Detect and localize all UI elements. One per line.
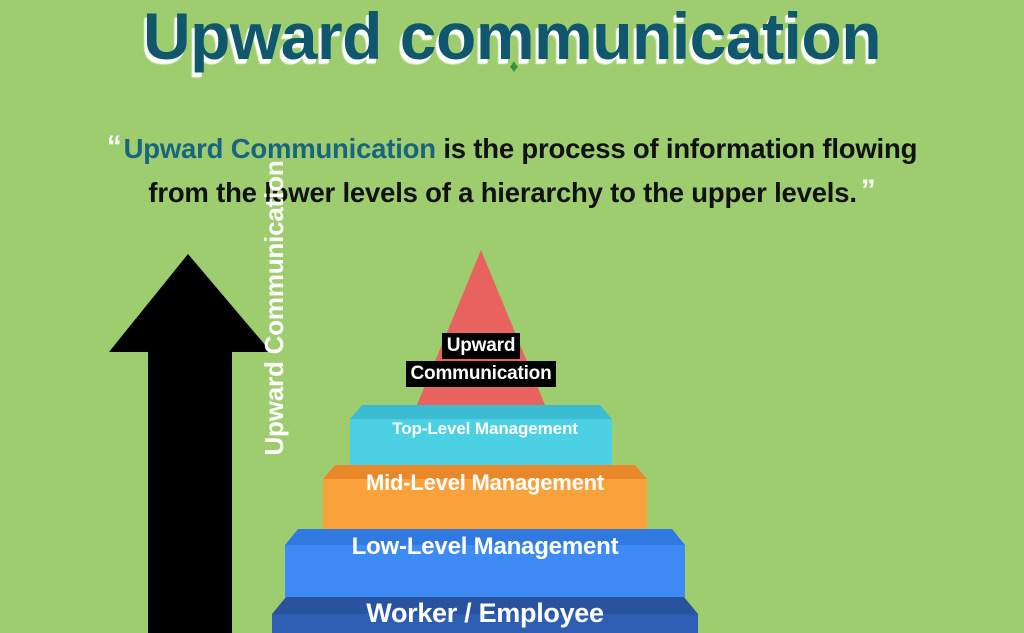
apex-label-line2: Communication [406,361,557,387]
apex-label: Upward Communication [381,333,581,389]
tier-front-face-worker-employee [272,614,698,633]
quote-highlight-term: Upward Communication [124,133,436,164]
apex-label-row-2: Communication [381,361,581,387]
quote-line1-rest: is the process of information flowing [436,133,917,164]
close-quote-icon: ” [861,174,876,207]
apex-label-row-1: Upward [381,333,581,359]
tier-front-face-mid-level [323,479,647,529]
slide-canvas: Upward communication ♦ “Upward Communica… [0,0,1024,633]
tier-top-face-top-level [350,405,612,419]
open-quote-icon: “ [107,130,122,163]
tier-front-face-low-level [285,545,685,597]
definition-quote: “Upward Communication is the process of … [8,126,1016,214]
tier-top-face-low-level [285,529,685,545]
title-decoration-icon: ♦ [505,55,523,77]
apex-label-line1: Upward [442,333,520,359]
tier-top-face-mid-level [323,465,647,479]
pyramid-diagram [250,240,720,633]
tier-top-face-worker-employee [272,597,698,614]
tier-front-face-top-level [350,419,612,465]
quote-line2: from the lower levels of a hierarchy to … [148,177,856,208]
